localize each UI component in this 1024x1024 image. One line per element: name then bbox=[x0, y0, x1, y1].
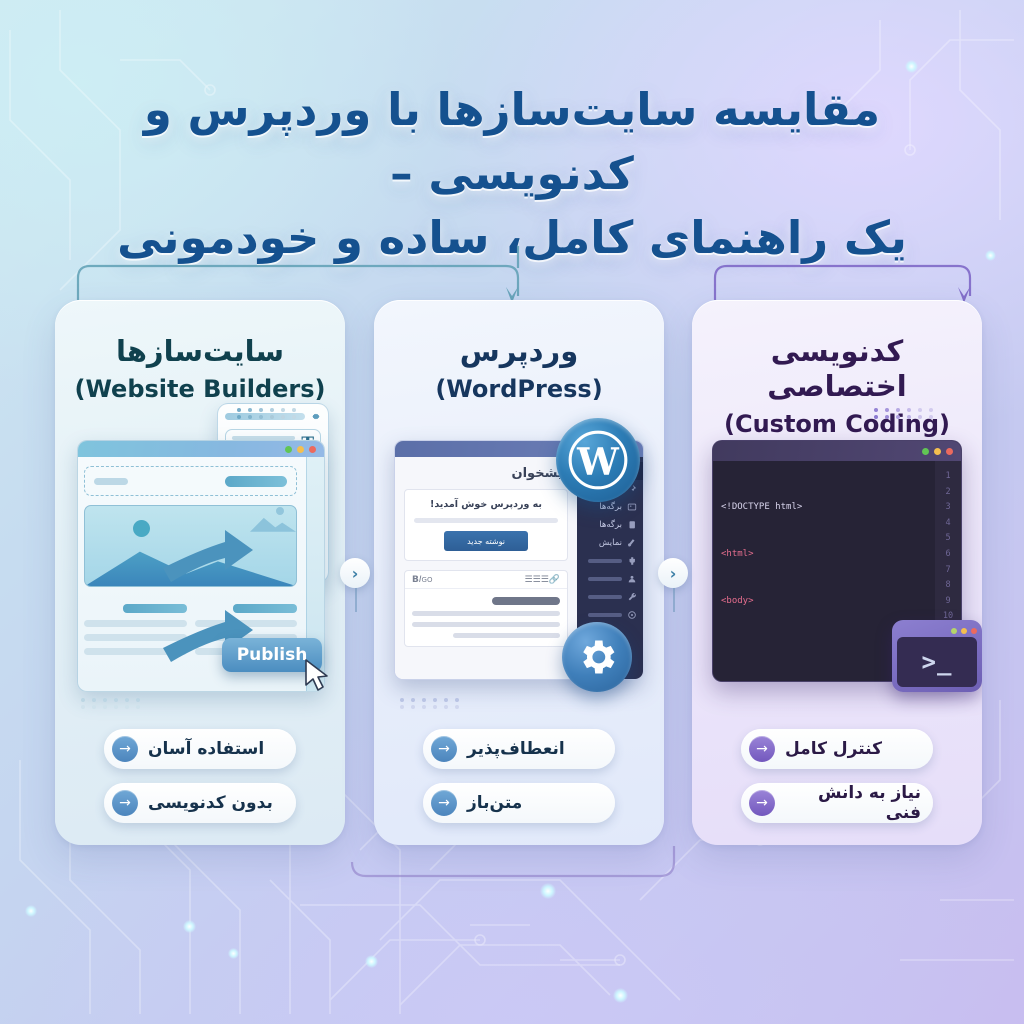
feature-pill-label: انعطاف‌پذیر bbox=[467, 739, 565, 759]
page-title: مقایسه سایت‌سازها با وردپرس و کدنویسی – … bbox=[0, 78, 1024, 270]
arrow-right-icon: → bbox=[749, 736, 775, 762]
wordpress-logo: W bbox=[556, 418, 640, 502]
sidebar-item-pages[interactable]: برگه‌ها bbox=[577, 516, 643, 534]
glow-dot bbox=[183, 920, 196, 933]
card-title-fa: کدنویسی اختصاصی bbox=[708, 334, 966, 404]
line-number: 3 bbox=[935, 500, 961, 516]
feature-pill[interactable]: انعطاف‌پذیر → bbox=[423, 729, 615, 769]
card-title-fa: وردپرس bbox=[390, 334, 648, 369]
content-title-block bbox=[492, 597, 560, 605]
terminal-prompt: >_ bbox=[897, 637, 977, 687]
align-icon[interactable]: ☰ bbox=[541, 575, 549, 585]
link-icon[interactable]: 🔗 bbox=[549, 575, 560, 585]
maximize-dot-icon bbox=[951, 628, 957, 634]
gear-badge bbox=[562, 622, 632, 692]
arrow-right-icon: → bbox=[431, 790, 457, 816]
chevron-right-connector-2[interactable]: › bbox=[658, 558, 688, 588]
close-dot-icon bbox=[309, 446, 316, 453]
sidebar-item-label: برگه‌ها bbox=[599, 502, 622, 512]
feature-pill-list: استفاده آسان → بدون کدنویسی → bbox=[71, 729, 329, 823]
dot-grid-decoration bbox=[77, 698, 140, 709]
arrow-right-icon: → bbox=[749, 790, 775, 816]
gear-icon bbox=[575, 635, 619, 679]
line-number: 8 bbox=[935, 578, 961, 594]
dot-grid-decoration bbox=[233, 408, 296, 419]
content-line bbox=[453, 633, 560, 638]
card-title-fa: سایت‌سازها bbox=[71, 334, 329, 369]
header-block bbox=[225, 476, 287, 487]
dot-grid-decoration bbox=[396, 698, 459, 709]
sidebar-item-tools[interactable] bbox=[577, 588, 643, 606]
code-line: <body> bbox=[721, 594, 935, 610]
sun-icon bbox=[133, 520, 150, 537]
editor-content[interactable] bbox=[405, 589, 567, 646]
line-number: 1 bbox=[935, 469, 961, 485]
header-block-small bbox=[94, 478, 128, 485]
welcome-text: به وردپرس خوش آمدید! bbox=[414, 499, 558, 510]
sidebar-item-stub bbox=[588, 577, 622, 581]
line-number: 9 bbox=[935, 594, 961, 610]
terminal-titlebar bbox=[897, 625, 977, 637]
line-number: 4 bbox=[935, 516, 961, 532]
quote-icon[interactable]: GO bbox=[422, 576, 433, 584]
mouse-cursor-icon bbox=[303, 658, 333, 696]
glow-dot bbox=[365, 955, 378, 968]
settings-icon bbox=[627, 610, 637, 620]
minimize-dot-icon bbox=[297, 446, 304, 453]
welcome-panel: به وردپرس خوش آمدید! نوشته جدید bbox=[404, 489, 568, 561]
arrow-right-icon: → bbox=[112, 790, 138, 816]
arrow-right-icon: → bbox=[112, 736, 138, 762]
window-titlebar bbox=[713, 441, 961, 461]
glow-dot bbox=[905, 60, 918, 73]
glow-dot bbox=[228, 948, 239, 959]
terminal-badge: >_ bbox=[892, 620, 982, 692]
bold-icon[interactable]: B bbox=[412, 575, 419, 585]
editor-toolbar[interactable]: B I GO ☰ ☰ ☰ 🔗 bbox=[405, 571, 567, 589]
plugin-icon bbox=[627, 556, 637, 566]
card-website-builders[interactable]: سایت‌سازها (Website Builders) bbox=[55, 300, 345, 845]
glow-dot bbox=[613, 988, 628, 1003]
maximize-dot-icon bbox=[922, 448, 929, 455]
user-icon bbox=[627, 574, 637, 584]
feature-pill[interactable]: نیاز به دانش فنی → bbox=[741, 783, 933, 823]
infographic-canvas: مقایسه سایت‌سازها با وردپرس و کدنویسی – … bbox=[0, 0, 1024, 1024]
svg-text:W: W bbox=[576, 439, 620, 483]
dot-grid-decoration bbox=[870, 408, 933, 419]
media-icon bbox=[627, 502, 637, 512]
new-post-button[interactable]: نوشته جدید bbox=[444, 531, 528, 551]
brush-icon bbox=[627, 538, 637, 548]
glow-dot bbox=[25, 905, 37, 917]
code-line: <!DOCTYPE html> bbox=[721, 500, 935, 516]
arrow-right-icon: → bbox=[431, 736, 457, 762]
sidebar-item-stub bbox=[588, 559, 622, 563]
card-title-en: (WordPress) bbox=[390, 375, 648, 403]
feature-pill-label: بدون کدنویسی bbox=[148, 793, 273, 813]
card-title-en: (Website Builders) bbox=[71, 375, 329, 403]
code-line: <html> bbox=[721, 547, 935, 563]
minimize-dot-icon bbox=[961, 628, 967, 634]
dropzone-header[interactable] bbox=[84, 466, 297, 496]
list-ordered-icon[interactable]: ☰ bbox=[525, 575, 533, 585]
pages-icon bbox=[627, 520, 637, 530]
feature-pill-label: متن‌باز bbox=[467, 793, 522, 813]
sidebar-item-appearance[interactable]: نمایش bbox=[577, 534, 643, 552]
feature-pill-list: انعطاف‌پذیر → متن‌باز → bbox=[390, 729, 648, 823]
feature-pill[interactable]: متن‌باز → bbox=[423, 783, 615, 823]
sidebar-item-label: نمایش bbox=[599, 538, 622, 548]
dashboard-heading: پیشخوان bbox=[404, 466, 568, 481]
line-number: 2 bbox=[935, 485, 961, 501]
feature-pill[interactable]: استفاده آسان → bbox=[104, 729, 296, 769]
feature-pill-list: کنترل کامل → نیاز به دانش فنی → bbox=[708, 729, 966, 823]
list-bullet-icon[interactable]: ☰ bbox=[533, 575, 541, 585]
feature-pill-label: استفاده آسان bbox=[148, 739, 264, 759]
dashboard-main: پیشخوان به وردپرس خوش آمدید! نوشته جدید … bbox=[395, 457, 577, 679]
close-dot-icon bbox=[946, 448, 953, 455]
gear-icon bbox=[310, 411, 321, 422]
content-line bbox=[412, 622, 560, 627]
sidebar-item-stub bbox=[588, 595, 622, 599]
line-number: 5 bbox=[935, 531, 961, 547]
line-number: 7 bbox=[935, 563, 961, 579]
close-dot-icon bbox=[971, 628, 977, 634]
sidebar-item-label: برگه‌ها bbox=[599, 520, 622, 530]
feature-pill[interactable]: کنترل کامل → bbox=[741, 729, 933, 769]
card-custom-coding[interactable]: کدنویسی اختصاصی (Custom Coding) 1 2 3 4 … bbox=[692, 300, 982, 845]
maximize-dot-icon bbox=[285, 446, 292, 453]
feature-pill-label: کنترل کامل bbox=[785, 739, 882, 759]
divider bbox=[414, 518, 558, 523]
wordpress-logo-glyph: W bbox=[565, 427, 631, 493]
content-line bbox=[412, 611, 560, 616]
image-icon bbox=[250, 506, 296, 532]
wrench-icon bbox=[627, 592, 637, 602]
sidebar-item-users[interactable] bbox=[577, 570, 643, 588]
editor-panel[interactable]: B I GO ☰ ☰ ☰ 🔗 bbox=[404, 570, 568, 647]
feature-pill-label: نیاز به دانش فنی bbox=[785, 783, 921, 823]
sidebar-item-stub bbox=[588, 613, 622, 617]
card-wordpress[interactable]: وردپرس (WordPress) پیشخوان نوشته‌ها bbox=[374, 300, 664, 845]
minimize-dot-icon bbox=[934, 448, 941, 455]
window-titlebar bbox=[78, 441, 324, 457]
chevron-right-connector-1[interactable]: › bbox=[340, 558, 370, 588]
glow-dot bbox=[540, 883, 556, 899]
line-number: 6 bbox=[935, 547, 961, 563]
sidebar-item-settings[interactable] bbox=[577, 606, 643, 624]
feature-pill[interactable]: بدون کدنویسی → bbox=[104, 783, 296, 823]
sidebar-item-plugins[interactable] bbox=[577, 552, 643, 570]
